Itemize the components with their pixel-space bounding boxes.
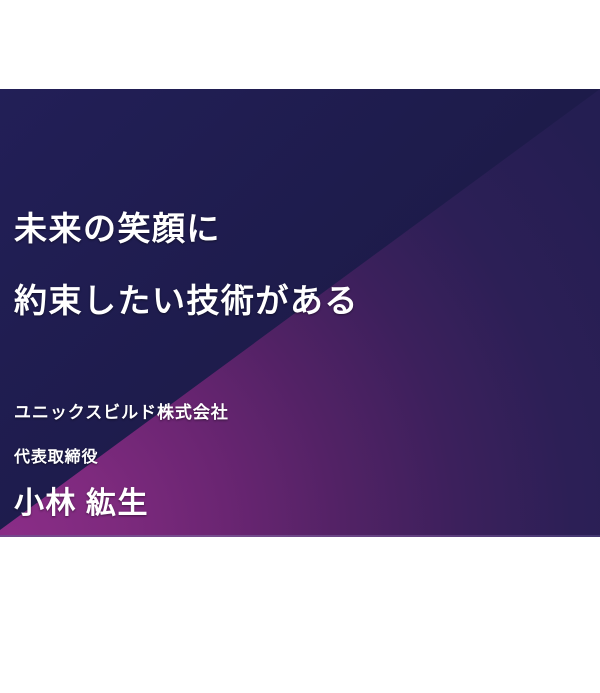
hero-banner: 未来の笑顔に 約束したい技術がある ユニックスビルド株式会社 代表取締役 小林 … xyxy=(0,89,600,537)
headline-line-1: 未来の笑顔に xyxy=(14,210,221,250)
person-name: 小林 紘生 xyxy=(14,485,149,523)
page-root: 未来の笑顔に 約束したい技術がある ユニックスビルド株式会社 代表取締役 小林 … xyxy=(0,0,600,693)
headline-line-2: 約束したい技術がある xyxy=(14,282,359,322)
person-role: 代表取締役 xyxy=(14,447,98,468)
banner-bottom-hairline xyxy=(0,535,600,537)
company-name: ユニックスビルド株式会社 xyxy=(14,402,229,424)
